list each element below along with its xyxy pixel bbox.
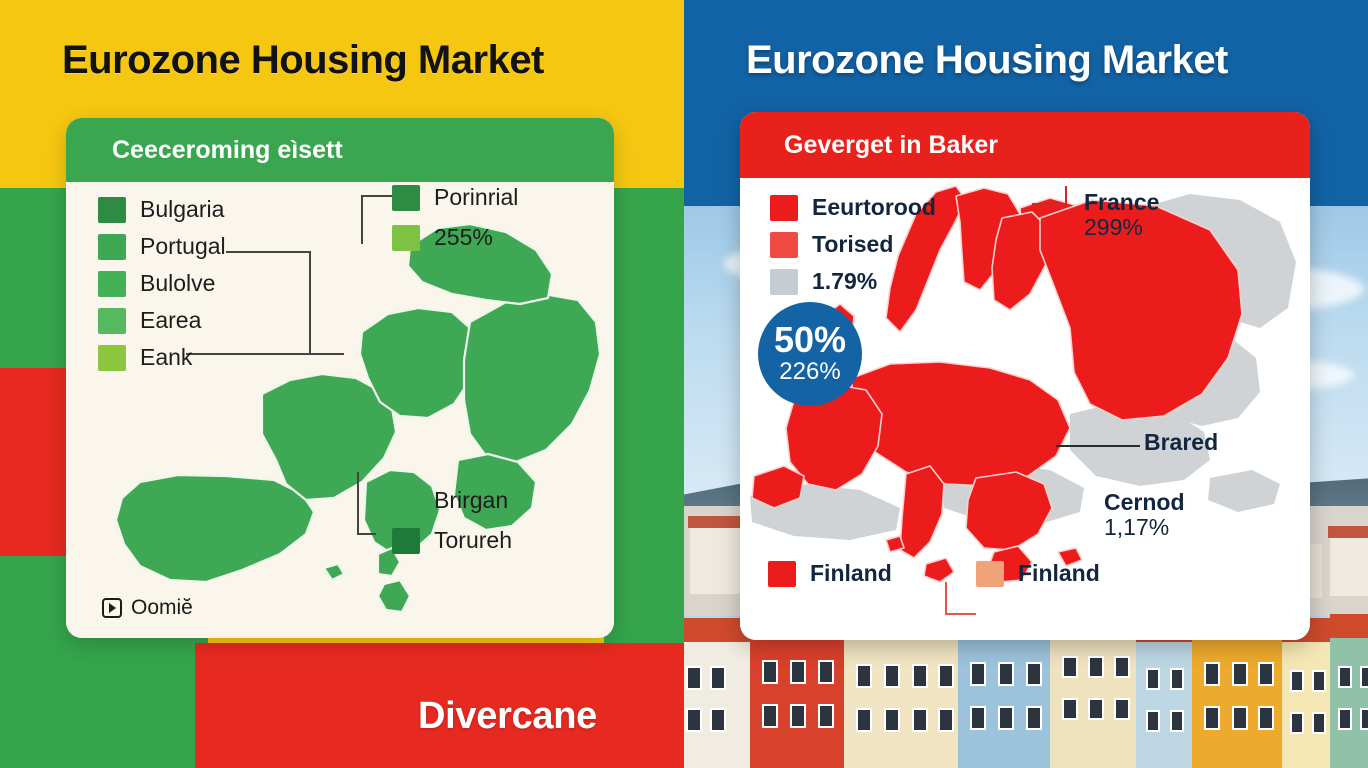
right-panel-title: Eurozone Housing Market: [746, 38, 1366, 83]
legend-item-bulolve[interactable]: Bulolve: [98, 270, 215, 297]
row-house: [684, 618, 754, 768]
legend-swatch: [392, 225, 420, 251]
right-panel: Eurozone Housing Market Geverget in Bake…: [684, 0, 1368, 768]
stat-badge-secondary: 226%: [779, 358, 840, 387]
legend-item-eeurtorood[interactable]: Eeurtorood: [770, 194, 936, 221]
legend-swatch: [98, 271, 126, 297]
left-card-header: Ceeceroming eìsett: [66, 118, 614, 182]
right-card-body: Eeurtorood Torised 1.79% 50% 226% Fr: [740, 178, 1310, 640]
house-wall: [1136, 642, 1196, 768]
left-card-header-label: Ceeceroming eìsett: [112, 136, 343, 165]
background-block-green-bottomleft: [0, 643, 195, 768]
left-card-footer-label: Oomiĕ: [131, 596, 193, 620]
house-wall: [1330, 638, 1368, 768]
callout-label: Brirgan: [434, 487, 508, 514]
legend-swatch: [770, 195, 798, 221]
legend-value: 1.79%: [812, 268, 877, 295]
stat-badge-primary: 50%: [774, 322, 846, 358]
annotation-brared[interactable]: Brared: [1144, 430, 1218, 454]
callout-porinrial[interactable]: Porinrial: [392, 184, 518, 211]
legend-item-179-percent[interactable]: 1.79%: [770, 268, 877, 295]
legend-label: Finland: [1018, 560, 1100, 587]
legend-label: Finland: [810, 560, 892, 587]
legend-label: Bulgaria: [140, 196, 224, 223]
legend-label: Torised: [812, 231, 893, 258]
legend-swatch: [770, 232, 798, 258]
annotation-cernod[interactable]: Cernod 1,17%: [1104, 490, 1185, 541]
row-house: [1330, 614, 1368, 768]
legend-label: Eeurtorood: [812, 194, 936, 221]
photo-watermark: [1353, 692, 1358, 712]
legend-label: Earea: [140, 307, 201, 334]
left-card: Ceeceroming eìsett: [66, 118, 614, 638]
stat-badge[interactable]: 50% 226%: [758, 302, 862, 406]
annotation-name: Brared: [1144, 430, 1218, 454]
legend-label: Eank: [140, 344, 192, 371]
legend-swatch: [392, 528, 420, 554]
legend-label: Bulolve: [140, 270, 215, 297]
row-house: [1282, 618, 1334, 768]
callout-255-percent[interactable]: 255%: [392, 224, 493, 251]
play-badge-icon: [102, 598, 122, 618]
legend-item-portugal[interactable]: Portugal: [98, 233, 226, 260]
row-house: [1136, 618, 1196, 768]
house-wall: [1192, 634, 1284, 768]
callout-brirgan[interactable]: Brirgan: [392, 487, 508, 514]
callout-torureh[interactable]: Torureh: [392, 527, 512, 554]
right-card-header-label: Geverget in Baker: [784, 131, 998, 160]
legend-swatch: [770, 269, 798, 295]
annotation-name: Cernod: [1104, 490, 1185, 514]
callout-label: Torureh: [434, 527, 512, 554]
house-wall: [844, 640, 960, 768]
right-card: Geverget in Baker: [740, 112, 1310, 640]
house-roof: [1330, 614, 1368, 640]
left-card-footer[interactable]: Oomiĕ: [102, 596, 193, 620]
legend-swatch: [98, 345, 126, 371]
legend-item-finland-red[interactable]: Finland: [768, 560, 892, 587]
legend-swatch: [392, 185, 420, 211]
house-wall: [684, 642, 754, 768]
annotation-value: 1,17%: [1104, 514, 1185, 540]
legend-swatch: [98, 197, 126, 223]
legend-swatch: [98, 234, 126, 260]
infographic-canvas: Eurozone Housing Market Ceeceroming eìse…: [0, 0, 1368, 768]
house-wall: [958, 636, 1052, 768]
house-wall: [1282, 642, 1334, 768]
legend-item-eank[interactable]: Eank: [98, 344, 192, 371]
annotation-france[interactable]: France 299%: [1084, 190, 1159, 241]
legend-item-earea[interactable]: Earea: [98, 307, 201, 334]
left-card-body: Bulgaria Portugal Bulolve Earea Eank: [66, 182, 614, 638]
legend-swatch: [976, 561, 1004, 587]
background-block-green-right: [604, 188, 684, 643]
annotation-value: 299%: [1084, 214, 1159, 240]
annotation-name: France: [1084, 190, 1159, 214]
legend-swatch: [392, 488, 420, 514]
left-panel-title: Eurozone Housing Market: [62, 38, 662, 83]
legend-swatch: [98, 308, 126, 334]
left-panel: Eurozone Housing Market Ceeceroming eìse…: [0, 0, 684, 768]
callout-value: 255%: [434, 224, 493, 251]
legend-swatch: [768, 561, 796, 587]
bottom-band-label: Divercane: [418, 695, 597, 738]
legend-item-bulgaria[interactable]: Bulgaria: [98, 196, 224, 223]
legend-item-torised[interactable]: Torised: [770, 231, 893, 258]
right-card-header: Geverget in Baker: [740, 112, 1310, 178]
callout-label: Porinrial: [434, 184, 518, 211]
house-wall: [750, 632, 846, 768]
legend-item-finland-peach[interactable]: Finland: [976, 560, 1100, 587]
legend-label: Portugal: [140, 233, 226, 260]
